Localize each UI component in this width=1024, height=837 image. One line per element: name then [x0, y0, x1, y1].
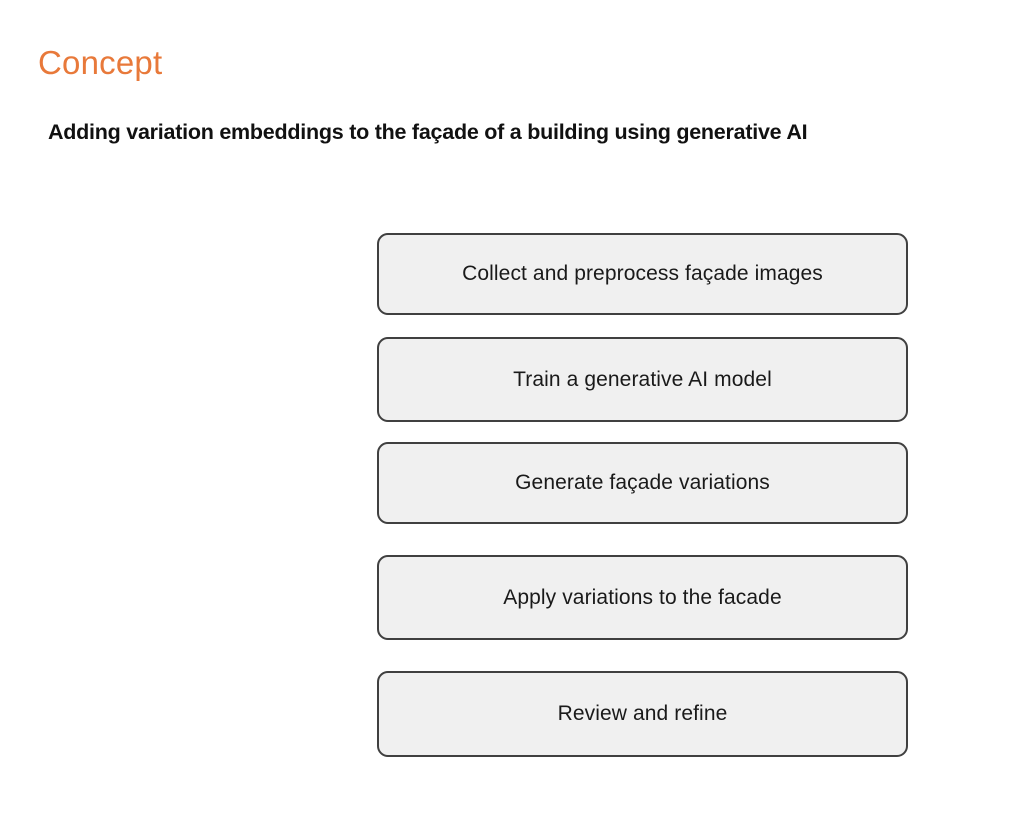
- flow-step-5-label: Review and refine: [558, 701, 728, 726]
- page-title: Concept: [38, 45, 162, 81]
- flow-step-1[interactable]: Collect and preprocess façade images: [377, 233, 908, 315]
- flow-step-4-label: Apply variations to the facade: [503, 585, 782, 610]
- flow-gap-2: [377, 422, 908, 442]
- flow-step-4[interactable]: Apply variations to the facade: [377, 555, 908, 640]
- flow-step-1-label: Collect and preprocess façade images: [462, 261, 823, 286]
- presentation-slide: Concept Adding variation embeddings to t…: [0, 0, 1024, 837]
- flow-step-2-label: Train a generative AI model: [513, 367, 772, 392]
- flow-gap-1: [377, 315, 908, 337]
- flow-gap-4: [377, 640, 908, 671]
- flow-step-3[interactable]: Generate façade variations: [377, 442, 908, 524]
- slide-subtitle: Adding variation embeddings to the façad…: [48, 120, 807, 145]
- flow-step-3-label: Generate façade variations: [515, 470, 770, 495]
- flow-diagram: Collect and preprocess façade images Tra…: [377, 233, 908, 757]
- flow-step-2[interactable]: Train a generative AI model: [377, 337, 908, 422]
- flow-step-5[interactable]: Review and refine: [377, 671, 908, 757]
- flow-gap-3: [377, 524, 908, 555]
